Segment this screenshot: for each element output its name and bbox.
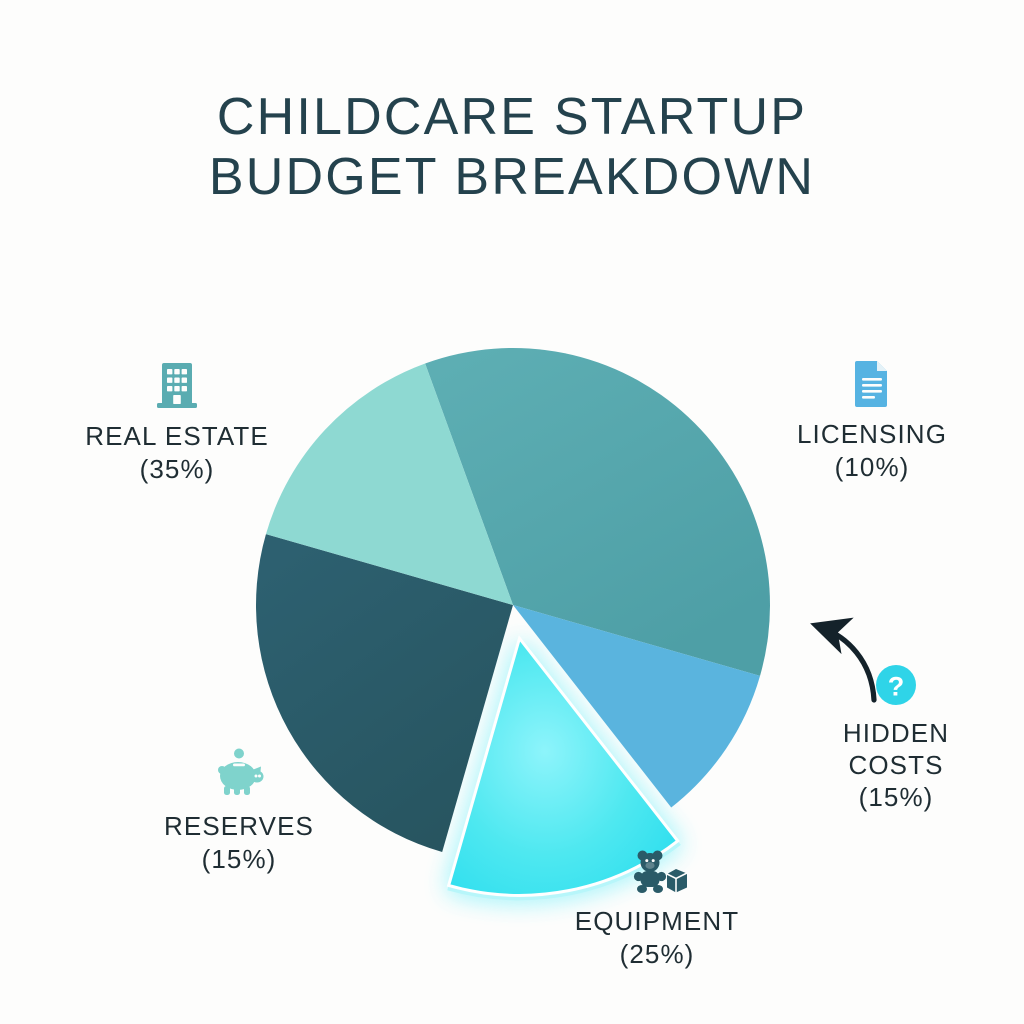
document-icon [752,358,992,408]
svg-text:?: ? [888,672,905,702]
teddy-bear-blocks-icon [534,848,780,896]
building-icon [46,360,308,410]
legend-label-equipment: EQUIPMENT [534,906,780,938]
legend-value-equipment: (25%) [534,938,780,971]
legend-label-real-estate: REAL ESTATE [46,420,308,453]
legend-item-licensing: LICENSING (10%) [752,358,992,485]
legend-label-reserves: RESERVES [126,810,352,843]
legend-value-hidden-costs: (15%) [790,781,1002,814]
legend-item-real-estate: REAL ESTATE (35%) [46,360,308,487]
piggy-bank-icon [126,748,352,800]
legend-item-hidden-costs: ? HIDDEN COSTS (15%) [790,662,1002,815]
legend-item-reserves: RESERVES (15%) [126,748,352,877]
legend-value-licensing: (10%) [752,451,992,484]
legend-label-hidden-costs-line1: HIDDEN [790,718,1002,750]
legend-item-equipment: EQUIPMENT (25%) [534,848,780,971]
question-mark-badge-icon: ? [790,662,1002,708]
infographic-canvas: CHILDCARE STARTUP BUDGET BREAKDOWN [0,0,1024,1024]
legend-value-reserves: (15%) [126,843,352,876]
legend-label-licensing: LICENSING [752,418,992,451]
legend-label-hidden-costs-line2: COSTS [790,750,1002,782]
legend-value-real-estate: (35%) [46,453,308,486]
